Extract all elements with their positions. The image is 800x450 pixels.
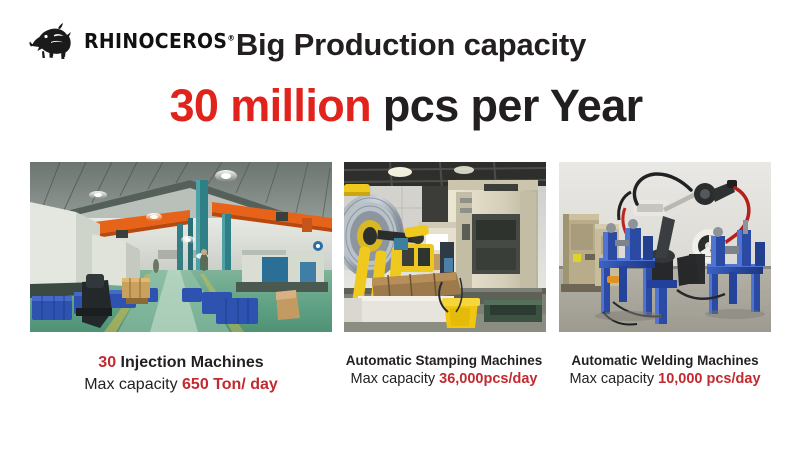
caption-injection-machines: 30 Injection Machines Max capacity 650 T…	[30, 352, 332, 395]
caption-2-line-2: Max capacity 36,000pcs/day	[336, 370, 552, 390]
caption-1-capacity-label: Max capacity	[84, 376, 182, 393]
caption-3-title: Automatic Welding Machines	[571, 353, 758, 368]
caption-2-capacity-label: Max capacity	[350, 371, 439, 387]
headline-unit: pcs per Year	[371, 80, 643, 131]
caption-3-capacity-label: Max capacity	[569, 371, 658, 387]
caption-2-capacity-value: 36,000pcs/day	[439, 371, 537, 387]
caption-2-line-1: Automatic Stamping Machines	[336, 352, 552, 370]
headline-line-1: Big Production capacity	[0, 28, 800, 62]
injection-molding-workshop-photo	[30, 162, 332, 332]
presentation-slide: RHINOCEROS® Big Production capacity 30 m…	[0, 0, 800, 450]
caption-1-capacity-value: 650 Ton/ day	[182, 376, 278, 393]
caption-3-line-2: Max capacity 10,000 pcs/day	[556, 370, 774, 390]
automatic-welding-machine-photo	[559, 162, 771, 332]
caption-stamping-machines: Automatic Stamping Machines Max capacity…	[336, 352, 552, 390]
caption-1-line-1: 30 Injection Machines	[30, 352, 332, 374]
caption-1-count: 30	[98, 354, 116, 371]
caption-1-title: Injection Machines	[116, 354, 264, 371]
caption-3-line-1: Automatic Welding Machines	[556, 352, 774, 370]
headline-line-2: 30 million pcs per Year	[0, 80, 800, 132]
caption-welding-machines: Automatic Welding Machines Max capacity …	[556, 352, 774, 390]
caption-2-title: Automatic Stamping Machines	[346, 353, 543, 368]
caption-3-capacity-value: 10,000 pcs/day	[658, 371, 760, 387]
automatic-stamping-machine-photo	[344, 162, 546, 332]
headline-quantity: 30 million	[169, 80, 371, 131]
caption-1-line-2: Max capacity 650 Ton/ day	[30, 374, 332, 396]
